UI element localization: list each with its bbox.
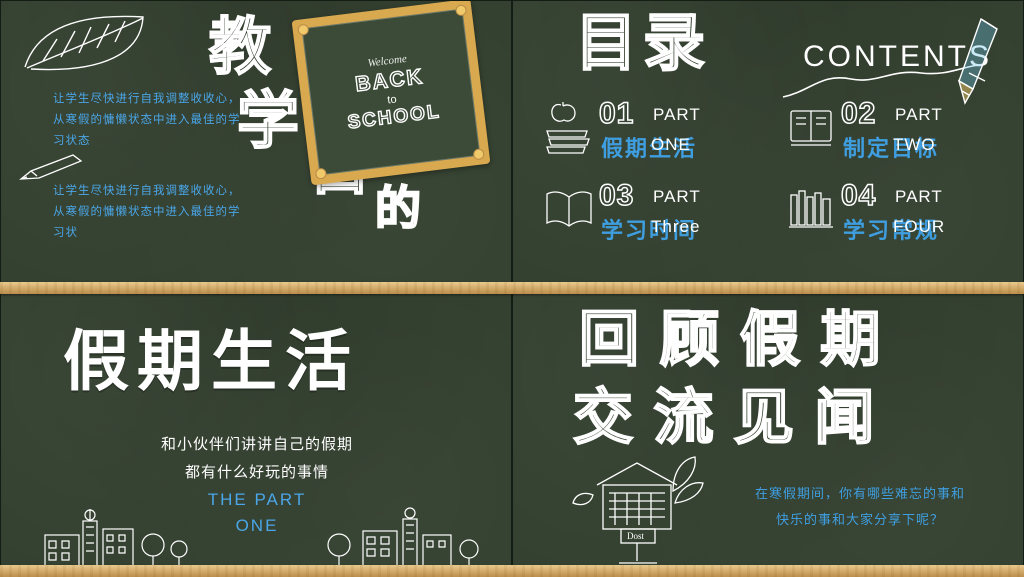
contents-item-4-part: PART — [895, 187, 943, 207]
review-paragraph: 在寒假期间，你有哪些难忘的事和 快乐的事和大家分享下呢？ — [725, 481, 995, 533]
contents-item-3-part: PART — [653, 187, 701, 207]
review-char-7: 见 — [734, 385, 796, 451]
slide-holiday-life[interactable]: 假期生活 和小伙伴们讲讲自己的假期 都有什么好玩的事情 THE PART ONE — [0, 288, 512, 577]
contents-item-1-part: PART — [653, 105, 701, 125]
contents-item-2-number: 02 — [841, 97, 876, 131]
wood-divider-top — [0, 282, 1024, 294]
contents-item-1[interactable]: 01 PART 假期生活 ONE — [543, 97, 753, 163]
contents-item-3-number: 03 — [599, 179, 634, 213]
board-pin-bottom-left — [315, 168, 327, 180]
bookshelf-icon — [785, 183, 837, 240]
title-char-1: 教 — [209, 17, 273, 79]
review-char-1: 回 — [579, 307, 641, 373]
leaf-icon — [17, 9, 157, 84]
board-line-1: BACK — [354, 65, 425, 97]
holiday-life-sub-line-1: 和小伙伴们讲讲自己的假期 — [1, 431, 512, 459]
contents-item-2-part: PART — [895, 105, 943, 125]
contents-item-3[interactable]: 03 PART 学习时间 Three — [543, 179, 753, 245]
slide-contents[interactable]: 目录 CONTENTS — [512, 0, 1024, 288]
contents-item-1-en: ONE — [651, 135, 691, 155]
contents-item-4[interactable]: 04 PART 学习常规 FOUR — [785, 179, 995, 245]
slide-review-holiday[interactable]: 回 顾 假 期 交 流 见 闻 在寒假期间，你有哪些难忘的事和 快乐的事和大家分… — [512, 288, 1024, 577]
board-pin-bottom-right — [473, 148, 485, 160]
holiday-life-sub-line-2: 都有什么好玩的事情 — [1, 459, 512, 487]
review-char-4: 期 — [820, 307, 882, 373]
contents-item-4-number: 04 — [841, 179, 876, 213]
holiday-life-sub: 和小伙伴们讲讲自己的假期 都有什么好玩的事情 — [1, 431, 512, 487]
city-skyline-icon — [31, 491, 201, 576]
contents-item-2[interactable]: 02 PART 制定目标 TWO — [785, 97, 995, 163]
chalkboard-icon: Welcome BACK to SCHOOL — [292, 0, 491, 185]
holiday-life-title: 假期生活 — [63, 325, 359, 397]
pencil-icon — [951, 15, 1015, 110]
review-title-line-1: 回 顾 假 期 — [579, 307, 896, 373]
contents-item-2-en: TWO — [893, 135, 936, 155]
board-pin-top-right — [455, 4, 467, 16]
contents-item-4-en: FOUR — [893, 217, 945, 237]
contents-item-1-number: 01 — [599, 97, 634, 131]
svg-text:Dost: Dost — [627, 531, 645, 541]
board-line-3: SCHOOL — [347, 101, 442, 134]
contents-item-3-en: Three — [651, 217, 700, 237]
wood-divider-bottom — [0, 565, 1024, 577]
mailbox-house-icon: Dost — [563, 439, 723, 574]
review-char-8: 闻 — [814, 385, 876, 451]
board-line-2: to — [387, 93, 398, 106]
title-char-4: 的 — [375, 185, 423, 231]
book-icon — [543, 183, 595, 240]
slide-deck: 让学生尽快进行自我调整收收心，从寒假的慵懒状态中进入最佳的学习状态 让学生尽快进… — [0, 0, 1024, 577]
open-book-icon — [785, 101, 837, 162]
review-char-3: 假 — [740, 307, 802, 373]
apple-books-icon — [543, 101, 595, 162]
city-skyline-icon-2 — [319, 491, 489, 576]
review-paragraph-line-2: 快乐的事和大家分享下呢？ — [725, 507, 995, 533]
contents-title: 目录 — [575, 13, 711, 75]
slide-teaching-purpose[interactable]: 让学生尽快进行自我调整收收心，从寒假的慵懒状态中进入最佳的学习状态 让学生尽快进… — [0, 0, 512, 288]
title-char-2: 学 — [237, 91, 301, 153]
review-paragraph-line-1: 在寒假期间，你有哪些难忘的事和 — [725, 481, 995, 507]
review-char-2: 顾 — [659, 307, 721, 373]
